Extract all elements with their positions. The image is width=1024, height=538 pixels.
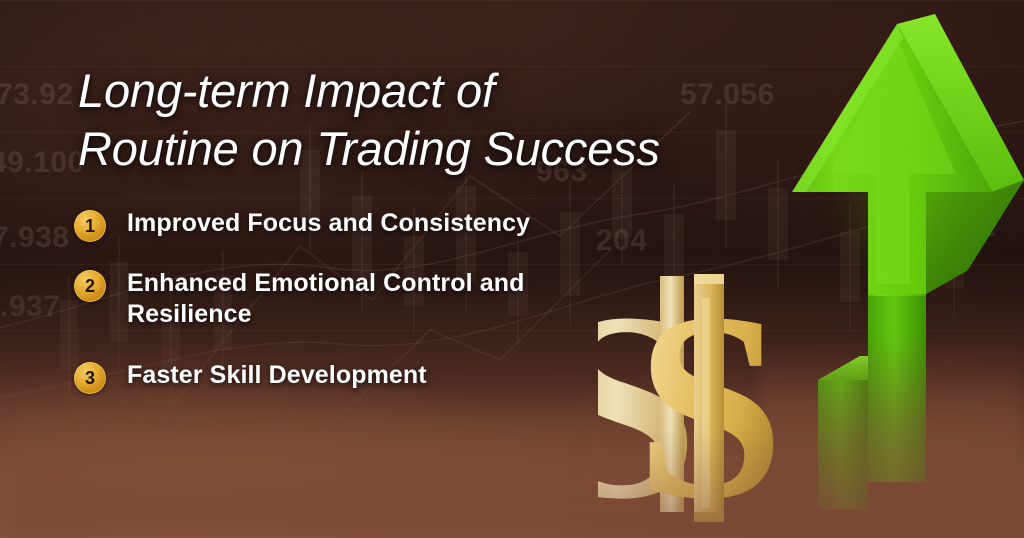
page-title-line-1: Long-term Impact of (78, 62, 778, 120)
list-number-badge-1: 1 (74, 210, 106, 242)
bg-number: 49.100 (0, 146, 85, 180)
benefits-list: 1 Improved Focus and Consistency 2 Enhan… (74, 208, 714, 394)
list-number-badge-3: 3 (74, 362, 106, 394)
list-item: 2 Enhanced Emotional Control and Resilie… (74, 268, 714, 330)
list-item-label-2: Enhanced Emotional Control and Resilienc… (127, 268, 557, 330)
list-number-badge-2: 2 (74, 270, 106, 302)
infographic-canvas: 73.92 49.100 7.938 .937 57.056 963 204 6… (0, 0, 1024, 538)
arrow-glow (800, 18, 990, 348)
bg-number: 7.938 (0, 221, 70, 255)
page-title-line-2: Routine on Trading Success (78, 120, 778, 178)
page-title: Long-term Impact of Routine on Trading S… (78, 62, 778, 178)
bg-number: 73.92 (0, 78, 74, 112)
list-item-label-1: Improved Focus and Consistency (127, 208, 530, 239)
list-item: 1 Improved Focus and Consistency (74, 208, 714, 242)
list-item: 3 Faster Skill Development (74, 360, 714, 394)
list-item-label-3: Faster Skill Development (127, 360, 427, 391)
